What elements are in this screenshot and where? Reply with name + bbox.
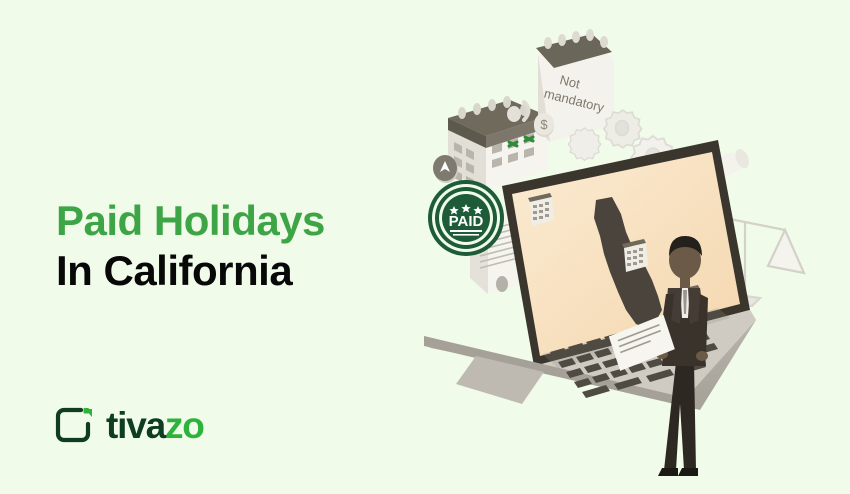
headline-line-2: In California xyxy=(56,246,436,296)
calendar-with-x-marks xyxy=(448,96,548,190)
headline-line-1: Paid Holidays xyxy=(56,196,436,246)
screen-calendar-2 xyxy=(622,239,648,272)
logo-wordmark: tivazo xyxy=(106,407,204,444)
bracket-square-icon xyxy=(52,404,94,446)
logo-word-part2: zo xyxy=(165,405,204,446)
page-title: Paid Holidays In California xyxy=(56,196,436,296)
svg-text:$: $ xyxy=(540,117,548,132)
tivazo-logo[interactable]: tivazo xyxy=(52,404,204,446)
paid-holidays-california-illustration: Not mandatory $ xyxy=(400,18,850,488)
coin-dollar-icon: $ xyxy=(534,113,554,137)
paid-stamp-badge: PAID xyxy=(428,180,504,256)
banner-root: Paid Holidays In California tivazo xyxy=(0,0,850,494)
screen-calendar-1 xyxy=(528,193,554,226)
logo-word-part1: tiva xyxy=(106,405,165,446)
paid-badge-label: PAID xyxy=(449,213,484,230)
